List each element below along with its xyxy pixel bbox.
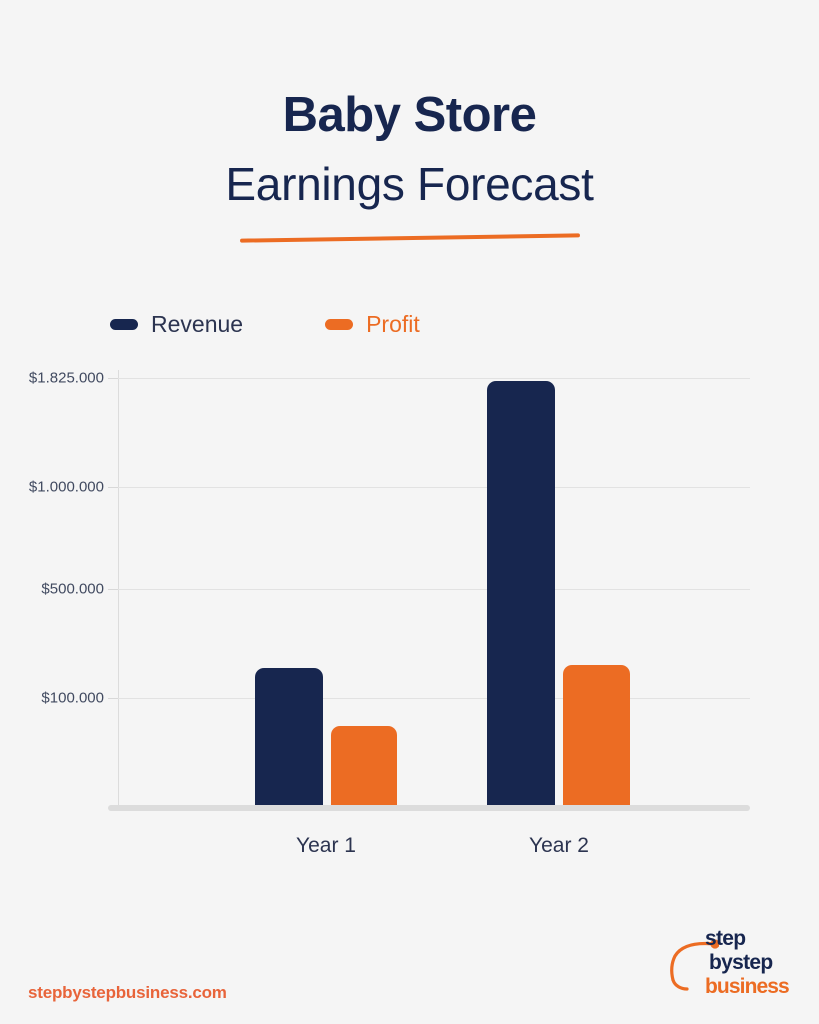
y-tick-mark xyxy=(108,378,118,379)
chart-canvas: Baby Store Earnings Forecast Revenue Pro… xyxy=(0,0,819,1024)
legend-item-revenue[interactable]: Revenue xyxy=(110,313,243,336)
plot-area: Year 1 Year 2 xyxy=(118,370,750,810)
logo-line-1: step xyxy=(705,928,795,952)
page-title: Baby Store xyxy=(283,86,537,144)
y-axis-line xyxy=(118,370,119,806)
y-tick-label: $1.825.000 xyxy=(29,370,104,387)
x-tick-label-year-2: Year 2 xyxy=(529,834,589,858)
legend-swatch-icon xyxy=(325,319,353,330)
y-tick-label: $1.000.000 xyxy=(29,479,104,496)
site-url-text: stepbystepbusiness.com xyxy=(28,983,227,1003)
y-tick-mark xyxy=(108,589,118,590)
chart-title-block: Baby Store Earnings Forecast xyxy=(0,86,819,212)
page-subtitle: Earnings Forecast xyxy=(0,156,819,212)
x-axis-baseline xyxy=(108,805,750,811)
gridline xyxy=(118,698,750,699)
legend-item-profit[interactable]: Profit xyxy=(325,313,420,336)
logo-word-step2: step xyxy=(732,951,772,974)
gridline xyxy=(118,487,750,488)
logo-line-3: business xyxy=(705,976,795,1000)
legend-label-revenue: Revenue xyxy=(151,313,243,336)
gridline xyxy=(118,589,750,590)
y-tick-label: $500.000 xyxy=(41,581,104,598)
logo-word-business: business xyxy=(705,975,789,998)
logo-word-step: step xyxy=(705,927,745,950)
x-tick-label-year-1: Year 1 xyxy=(296,834,356,858)
bar-profit-year-2[interactable] xyxy=(563,665,630,805)
bar-revenue-year-2[interactable] xyxy=(487,381,555,805)
gridline xyxy=(118,378,750,379)
y-tick-mark xyxy=(108,487,118,488)
logo-wordmark: step bystep business xyxy=(705,928,795,1000)
logo-line-2: bystep xyxy=(705,952,795,976)
bar-revenue-year-1[interactable] xyxy=(255,668,323,805)
legend-swatch-icon xyxy=(110,319,138,330)
y-axis-tick-labels: $1.825.000 $1.000.000 $500.000 $100.000 xyxy=(0,370,104,810)
y-tick-mark xyxy=(108,698,118,699)
y-tick-label: $100.000 xyxy=(41,690,104,707)
logo-word-by: by xyxy=(709,951,732,974)
brand-logo[interactable]: step bystep business xyxy=(665,928,793,1004)
title-underline-rule xyxy=(240,233,580,242)
legend-label-profit: Profit xyxy=(366,313,420,336)
chart-legend: Revenue Profit xyxy=(110,313,420,336)
bar-profit-year-1[interactable] xyxy=(331,726,397,805)
